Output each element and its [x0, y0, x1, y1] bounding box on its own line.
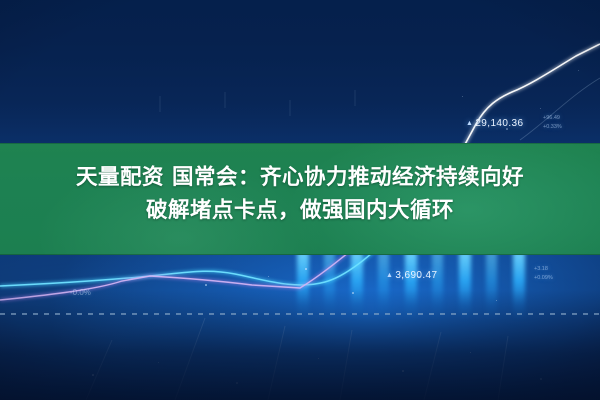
headline-banner: 天量配资 国常会：齐心协力推动经济持续向好 破解堵点卡点，做强国内大循环	[0, 143, 600, 255]
banner-bottom-divider	[0, 254, 600, 255]
quote-label-secondary: ▲3,690.47	[386, 270, 437, 281]
page-title: 天量配资 国常会：齐心协力推动经济持续向好 破解堵点卡点，做强国内大循环	[0, 161, 600, 227]
quote-changepct-secondary: +0.09%	[534, 275, 553, 282]
screenshot-canvas: 7,485.67 -0.0% ▲29,140.36 +96.49 +0.33% …	[0, 0, 600, 400]
up-triangle-icon-2: ▲	[386, 272, 393, 279]
quote-label-primary: ▲29,140.36	[466, 118, 523, 129]
quote-value-secondary: 3,690.47	[395, 270, 437, 281]
quote-value-primary: 29,140.36	[475, 118, 523, 129]
quote-changepct-primary: +0.33%	[543, 124, 562, 131]
headline-line-1: 天量配资 国常会：齐心协力推动经济持续向好	[76, 165, 524, 190]
quote-change-secondary: +3.18	[534, 266, 548, 273]
ghost-percent-label: -0.0%	[70, 288, 91, 297]
quote-change-primary: +96.49	[543, 115, 560, 122]
up-triangle-icon: ▲	[466, 120, 473, 127]
headline-line-2: 破解堵点卡点，做强国内大循环	[0, 194, 600, 227]
